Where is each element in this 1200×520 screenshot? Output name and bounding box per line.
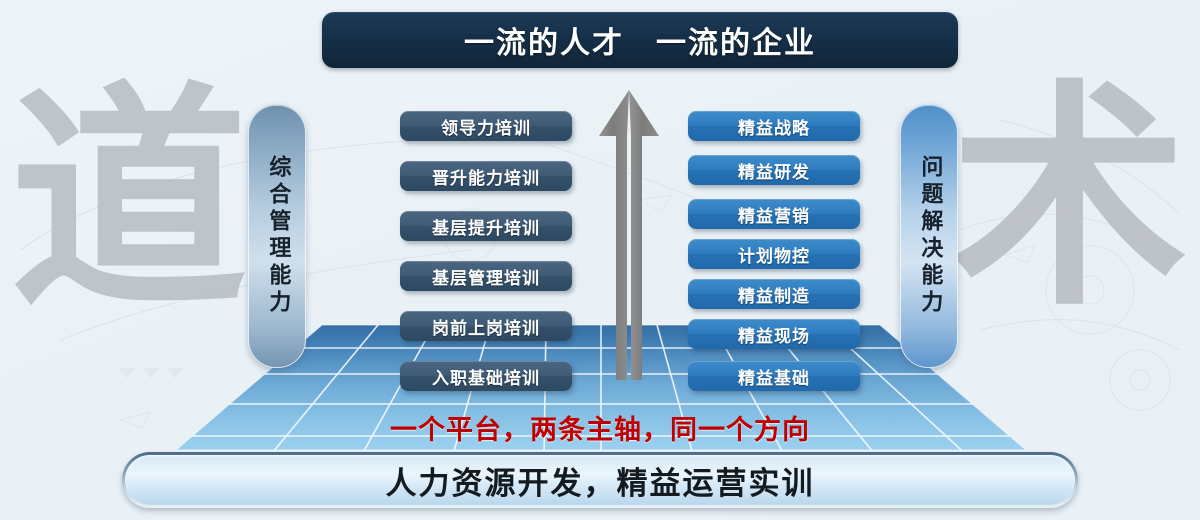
- chip-left-4[interactable]: 基层管理培训: [400, 261, 572, 291]
- chip-left-2[interactable]: 晋升能力培训: [400, 161, 572, 191]
- watermark-shu: 术: [950, 80, 1188, 318]
- pillar-right-problem-solving[interactable]: 问题解决能力: [900, 104, 958, 368]
- pillar-left-label: 综合管理能力: [265, 155, 290, 317]
- slide-canvas: 道 术: [0, 0, 1200, 520]
- watermark-dao: 道: [10, 82, 248, 320]
- page-title: 一流的人才 一流的企业: [464, 18, 816, 62]
- chip-right-6[interactable]: 精益现场: [688, 319, 860, 349]
- slogan-text: 一个平台，两条主轴，同一个方向: [0, 408, 1200, 447]
- chip-right-5[interactable]: 精益制造: [688, 279, 860, 309]
- chip-right-7[interactable]: 精益基础: [688, 361, 860, 391]
- chip-right-2[interactable]: 精益研发: [688, 155, 860, 185]
- title-banner: 一流的人才 一流的企业: [322, 12, 958, 68]
- footer-bar[interactable]: 人力资源开发，精益运营实训: [122, 452, 1078, 508]
- chip-left-1[interactable]: 领导力培训: [400, 111, 572, 141]
- footer-label: 人力资源开发，精益运营实训: [386, 458, 815, 503]
- chip-left-3[interactable]: 基层提升培训: [400, 211, 572, 241]
- chip-right-4[interactable]: 计划物控: [688, 239, 860, 269]
- pillar-right-label: 问题解决能力: [917, 155, 942, 317]
- chip-right-1[interactable]: 精益战略: [688, 111, 860, 141]
- footer-bar-inner: 人力资源开发，精益运营实训: [125, 455, 1075, 505]
- double-up-arrow-icon: [594, 88, 664, 388]
- chip-left-6[interactable]: 入职基础培训: [400, 361, 572, 391]
- chip-right-3[interactable]: 精益营销: [688, 199, 860, 229]
- pillar-left-comprehensive-management[interactable]: 综合管理能力: [248, 104, 306, 368]
- chip-left-5[interactable]: 岗前上岗培训: [400, 311, 572, 341]
